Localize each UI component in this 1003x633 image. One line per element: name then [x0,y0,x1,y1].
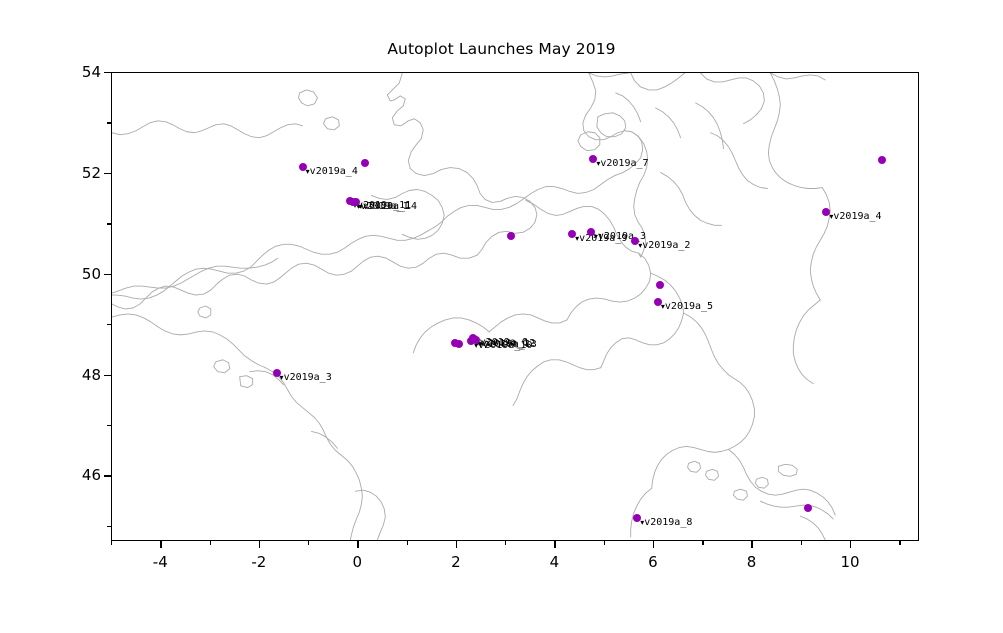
y-axis-tick-label: 50 [59,265,101,283]
data-point-label: ▾v2019a_7 [596,159,648,169]
y-axis-tick [104,72,111,73]
data-point-label: ▾v2019a_5 [661,302,713,312]
x-axis-tick [899,541,900,545]
data-point-label-text: v2019a_2 [642,240,690,251]
y-axis-tick-label: 54 [59,63,101,81]
chart-title: Autoplot Launches May 2019 [0,40,1003,58]
data-point-label: ▾v2019a_3 [280,373,332,383]
x-axis-tick [505,541,506,545]
data-point[interactable] [361,159,369,167]
x-axis-tick [111,541,112,545]
data-point-label-text: v2019a_3 [284,372,332,383]
x-axis-tick [653,541,654,548]
x-axis-tick [407,541,408,545]
data-point[interactable] [656,281,664,289]
data-point-label-text: v2019a_4 [833,211,881,222]
x-axis-tick [702,541,703,545]
y-axis-tick [104,475,111,476]
y-axis-tick [104,173,111,174]
y-axis-tick [104,274,111,275]
x-axis-tick [259,541,260,548]
data-point-label-text: v2019a_14 [363,201,417,212]
data-point-label-text: v2019a_10 [478,340,532,351]
y-axis-tick-label: 52 [59,164,101,182]
x-axis-tick [604,541,605,545]
x-axis-tick-label: 2 [451,553,461,571]
y-axis-tick [104,375,111,376]
data-point-label-text: v2019a_7 [600,158,648,169]
x-axis-tick [160,541,161,548]
data-point-label: ▾v2019a_4 [306,167,358,177]
x-axis-tick-label: 8 [747,553,757,571]
y-axis-tick-label: 48 [59,366,101,384]
x-axis-tick [751,541,752,548]
x-axis-tick [456,541,457,548]
data-point-label: ▾v2019a_8 [640,518,692,528]
x-axis-tick-label: 0 [353,553,363,571]
data-point-label: ▾v2019a_2 [638,241,690,251]
x-axis-tick [210,541,211,545]
x-axis-tick [357,541,358,548]
x-axis-tick [308,541,309,545]
x-axis-tick-label: 10 [840,553,859,571]
figure-canvas: Autoplot Launches May 2019 [0,0,1003,633]
data-point[interactable] [878,156,886,164]
x-axis-tick [850,541,851,548]
x-axis-tick-label: -2 [251,553,266,571]
data-point-label: ▾v2019a_14 [359,202,417,212]
map-plot-area[interactable]: ▾v2019a_4▾v2019a_11▾v2019a_1▾v2019a_14▾v… [111,72,919,541]
data-point[interactable] [804,504,812,512]
y-axis-tick-label: 46 [59,466,101,484]
x-axis-tick [801,541,802,545]
data-point-label: ▾v2019a_10 [474,341,532,351]
data-point-label-text: v2019a_8 [644,517,692,528]
data-points-layer: ▾v2019a_4▾v2019a_11▾v2019a_1▾v2019a_14▾v… [112,73,918,540]
data-point[interactable] [507,232,515,240]
data-point-label-text: v2019a_5 [665,301,713,312]
x-axis-tick [554,541,555,548]
x-axis-tick-label: -4 [153,553,168,571]
x-axis-tick-label: 4 [550,553,560,571]
x-axis-tick-label: 6 [648,553,658,571]
data-point-label-text: v2019a_4 [310,166,358,177]
data-point-label: ▾v2019a_4 [829,212,881,222]
